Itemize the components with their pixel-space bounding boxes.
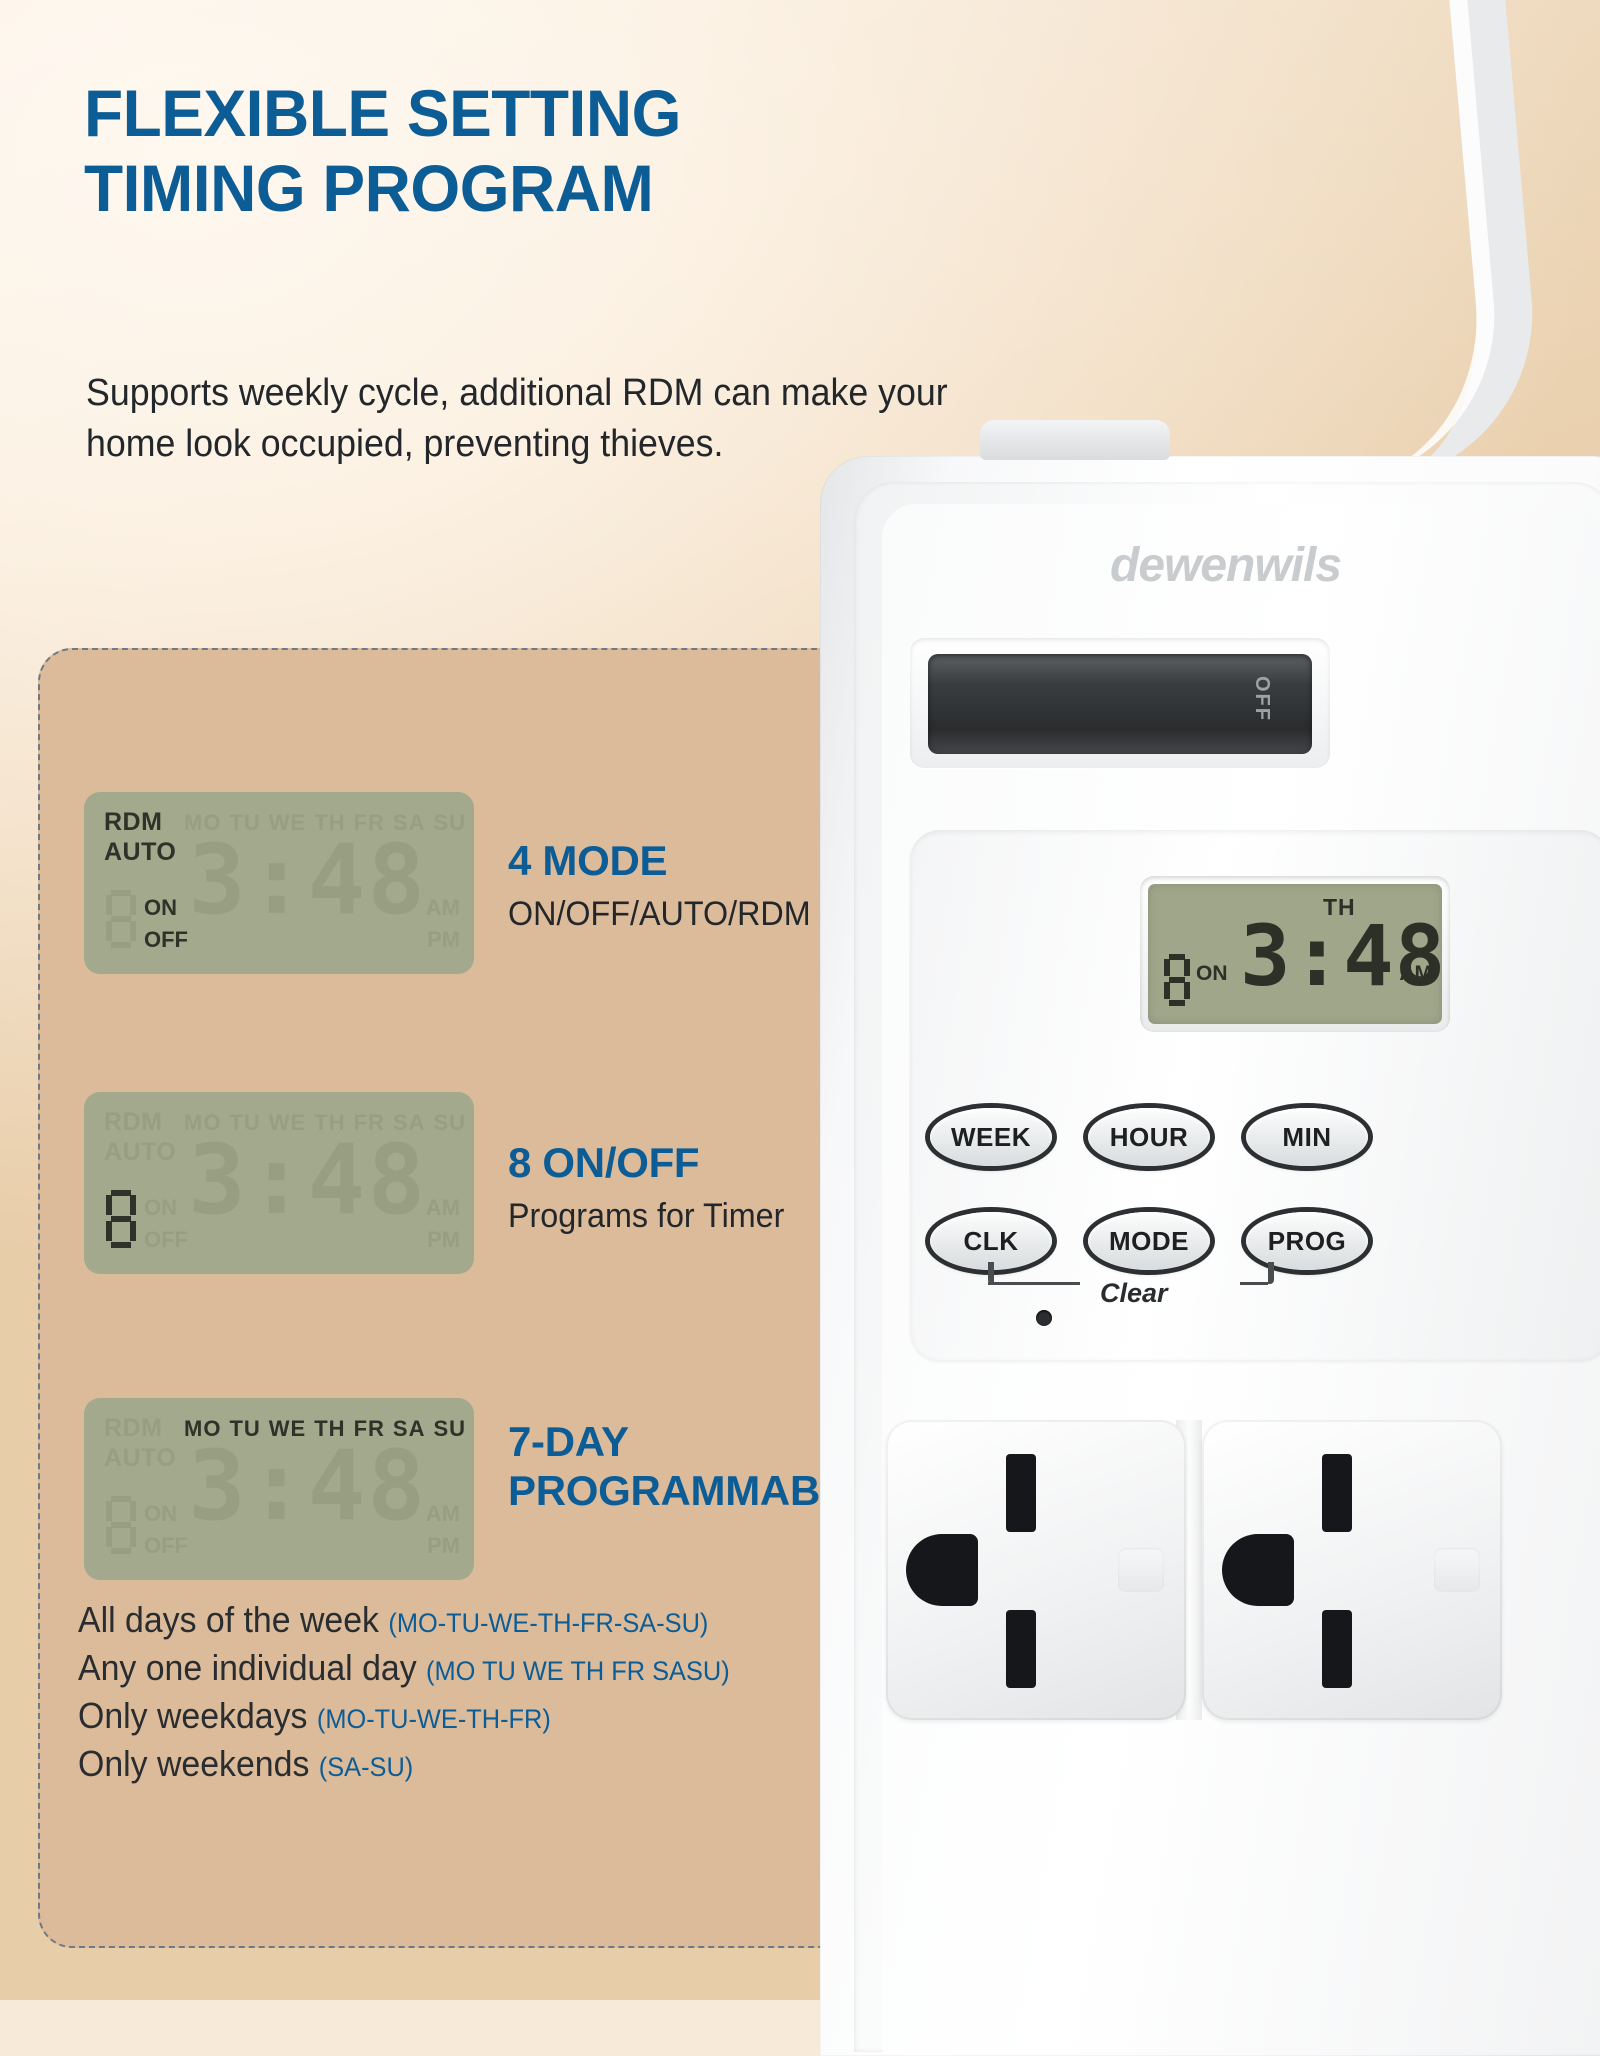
brand-logo: dewenwils — [1110, 538, 1341, 593]
lcd-mode-rdm: RDM — [104, 808, 176, 838]
outlet — [886, 1420, 1186, 1720]
lcd-am-label: AM — [426, 892, 460, 924]
lcd-onoff: ON OFF — [144, 1192, 188, 1256]
lcd-day-su: SU — [433, 810, 466, 835]
lcd-mode-auto: AUTO — [104, 1444, 176, 1474]
page-title: FLEXIBLE SETTING TIMING PROGRAM — [84, 76, 957, 226]
feature-title: 4 MODE — [508, 838, 827, 884]
device-meridiem: AM — [1399, 962, 1432, 986]
lcd-mode-auto: AUTO — [104, 838, 176, 868]
feature-caption-programs: 8 ON/OFF Programs for Timer — [508, 1140, 799, 1237]
outlet-slot-top — [1006, 1454, 1036, 1532]
lcd-pm-label: PM — [426, 1224, 460, 1256]
day-option-list: All days of the week (MO-TU-WE-TH-FR-SA-… — [78, 1596, 938, 1788]
device-lcd-screen: ON TH 3:48 AM — [1148, 884, 1442, 1024]
feature-subtitle: ON/OFF/AUTO/RDM — [508, 894, 811, 935]
outlet — [1202, 1420, 1502, 1720]
title-line-1: FLEXIBLE SETTING — [84, 76, 681, 150]
lcd-day-su: SU — [433, 1416, 466, 1441]
lcd-program-digit-icon — [106, 1496, 136, 1554]
list-item: Only weekdays (MO-TU-WE-TH-FR) — [78, 1692, 886, 1740]
list-item-detail: (MO TU WE TH FR SASU) — [426, 1656, 730, 1686]
outlet-ground-slot — [1222, 1534, 1294, 1606]
lcd-off-label: OFF — [144, 924, 188, 956]
title-line-2: TIMING PROGRAM — [84, 151, 957, 226]
feature-subtitle: Programs for Timer — [508, 1196, 784, 1237]
clear-bracket-line-right — [1240, 1282, 1268, 1285]
lcd-time: 3:48 — [188, 1132, 427, 1228]
lcd-off-label: OFF — [144, 1530, 188, 1562]
lcd-time: 3:48 — [188, 832, 427, 928]
list-item: All days of the week (MO-TU-WE-TH-FR-SA-… — [78, 1596, 886, 1644]
list-item: Any one individual day (MO TU WE TH FR S… — [78, 1644, 886, 1692]
lcd-mode-rdm: RDM — [104, 1414, 176, 1444]
feature-caption-days: 7-DAY PROGRAMMABLE — [508, 1418, 873, 1515]
lcd-mock-modes: RDM AUTO MOTUWETHFRSASU ON OFF 3:48 AM P… — [84, 792, 474, 974]
clear-bracket-line-left — [988, 1282, 1080, 1285]
outlet-ground-slot — [906, 1534, 978, 1606]
list-item-text: Any one individual day — [78, 1647, 426, 1688]
outlet-slot-top — [1322, 1454, 1352, 1532]
list-item-text: Only weekends — [78, 1743, 319, 1784]
lcd-on-label: ON — [144, 892, 188, 924]
week-button[interactable]: WEEK — [930, 1108, 1052, 1166]
outlet-slot-bottom — [1322, 1610, 1352, 1688]
lcd-am-label: AM — [426, 1192, 460, 1224]
lcd-mode-auto: AUTO — [104, 1138, 176, 1168]
feature-title-line-2: PROGRAMMABLE — [508, 1467, 873, 1516]
device-lcd-frame: ON TH 3:48 AM — [1140, 876, 1450, 1032]
min-button[interactable]: MIN — [1246, 1108, 1368, 1166]
lcd-modes: RDM AUTO — [104, 1414, 176, 1473]
lcd-modes: RDM AUTO — [104, 1108, 176, 1167]
lcd-meridiem: AM PM — [426, 1192, 460, 1256]
switch-off-label: OFF — [1250, 676, 1273, 722]
lcd-on-label: ON — [144, 1192, 188, 1224]
list-item: Only weekends (SA-SU) — [78, 1740, 886, 1788]
list-item-detail: (SA-SU) — [319, 1752, 413, 1782]
page-subtitle: Supports weekly cycle, additional RDM ca… — [86, 368, 988, 471]
feature-caption-mode: 4 MODE ON/OFF/AUTO/RDM — [508, 838, 827, 935]
lcd-am-label: AM — [426, 1498, 460, 1530]
cord-strain-relief — [980, 420, 1170, 460]
outlet-slot-bottom — [1006, 1610, 1036, 1688]
lcd-onoff: ON OFF — [144, 892, 188, 956]
lcd-mode-rdm: RDM — [104, 1108, 176, 1138]
lcd-program-digit-icon — [106, 890, 136, 948]
list-item-text: All days of the week — [78, 1599, 388, 1640]
lcd-mock-programs: RDM AUTO MOTUWETHFRSASU ON OFF 3:48 AM P… — [84, 1092, 474, 1274]
clear-label: Clear — [1100, 1278, 1168, 1309]
lcd-on-label: ON — [144, 1498, 188, 1530]
lcd-program-digit-icon — [106, 1190, 136, 1248]
lcd-off-label: OFF — [144, 1224, 188, 1256]
lcd-onoff: ON OFF — [144, 1498, 188, 1562]
lcd-mock-days: RDM AUTO MOTUWETHFRSASU ON OFF 3:48 AM P… — [84, 1398, 474, 1580]
lcd-modes: RDM AUTO — [104, 808, 176, 867]
lcd-meridiem: AM PM — [426, 1498, 460, 1562]
device-program-digit-icon — [1164, 954, 1190, 1006]
list-item-detail: (MO-TU-WE-TH-FR) — [317, 1704, 551, 1734]
feature-title-line-1: 7-DAY — [508, 1418, 873, 1467]
lcd-pm-label: PM — [426, 1530, 460, 1562]
device-on-label: ON — [1196, 962, 1228, 986]
outlet-notch — [1434, 1548, 1480, 1592]
reset-pinhole[interactable] — [1036, 1310, 1052, 1326]
hour-button[interactable]: HOUR — [1088, 1108, 1210, 1166]
lcd-day-su: SU — [433, 1110, 466, 1135]
lcd-time: 3:48 — [188, 1438, 427, 1534]
product-photo: dewenwils OFF ON TH 3:48 AM WEEK HOUR MI… — [940, 420, 1600, 2020]
lcd-pm-label: PM — [426, 924, 460, 956]
lcd-meridiem: AM PM — [426, 892, 460, 956]
outlet-notch — [1118, 1548, 1164, 1592]
list-item-text: Only weekdays — [78, 1695, 317, 1736]
feature-title: 8 ON/OFF — [508, 1140, 799, 1186]
list-item-detail: (MO-TU-WE-TH-FR-SA-SU) — [388, 1608, 708, 1638]
